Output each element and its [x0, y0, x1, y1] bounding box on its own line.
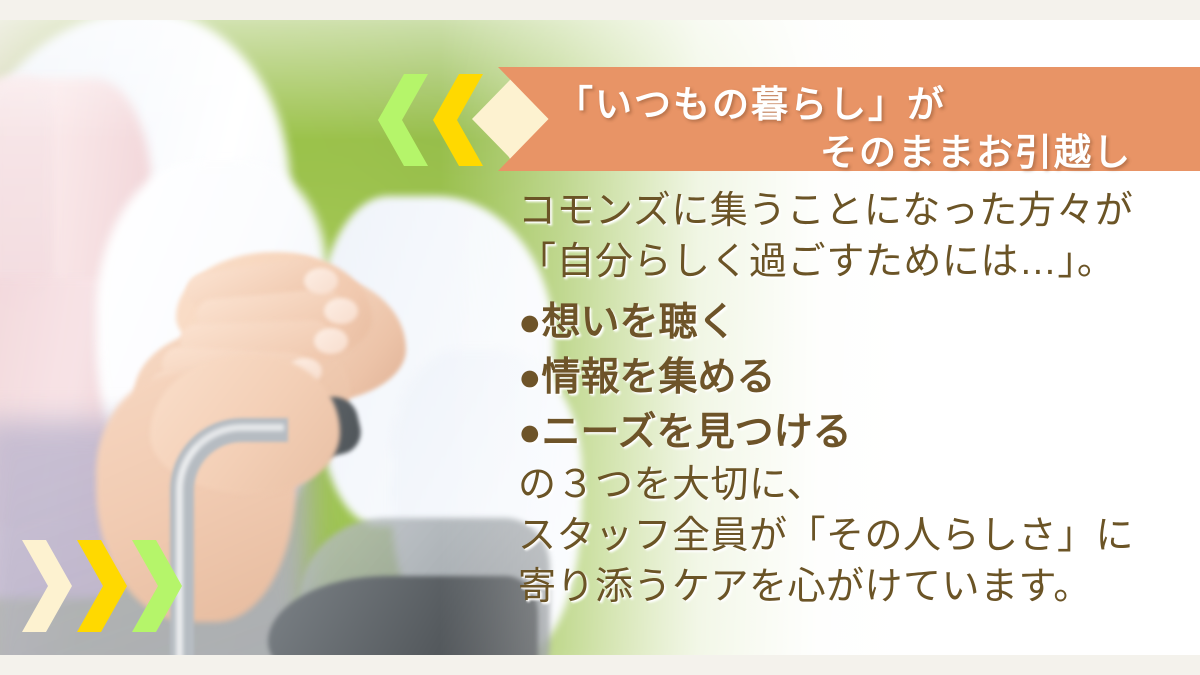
fingernail [304, 268, 338, 294]
fingernail [314, 328, 348, 354]
bottom-frame-strip [0, 655, 1200, 675]
intro-line-2: 「自分らしく過ごすためには…」。 [518, 237, 1190, 288]
fingernail [324, 298, 358, 324]
chevron-right-icon-green [132, 540, 182, 632]
bullet-item-2: ●情報を集める [518, 350, 1190, 405]
wheelchair-frame-highlight [176, 424, 284, 655]
bullet-item-1: ●想いを聴く [518, 295, 1190, 350]
outro-line-1: の３つを大切に、 [518, 460, 1190, 511]
outro-line-3: 寄り添うケアを心がけています。 [518, 562, 1190, 613]
bullet-item-3: ●ニーズを見つける [518, 405, 1190, 460]
outro-line-2: スタッフ全員が「その人らしさ」に [518, 511, 1190, 562]
footer-chevron-group [22, 540, 182, 632]
promotional-banner-slide: 「いつもの暮らし」が そのままお引越し コモンズに集うことになった方々が 「自分… [0, 0, 1200, 675]
headline-line-2: そのままお引越し [820, 122, 1132, 176]
headline-line-1: 「いつもの暮らし」が [556, 74, 946, 128]
top-frame-strip [0, 0, 1200, 20]
chevron-left-icon-green [378, 74, 428, 166]
chevron-right-icon-cream [22, 540, 72, 632]
chevron-right-icon-yellow [77, 540, 127, 632]
body-copy: コモンズに集うことになった方々が 「自分らしく過ごすためには…」。 ●想いを聴く… [518, 186, 1190, 613]
copy-spacer [518, 288, 1190, 295]
intro-line-1: コモンズに集うことになった方々が [518, 186, 1190, 237]
apron-strap [0, 76, 54, 306]
